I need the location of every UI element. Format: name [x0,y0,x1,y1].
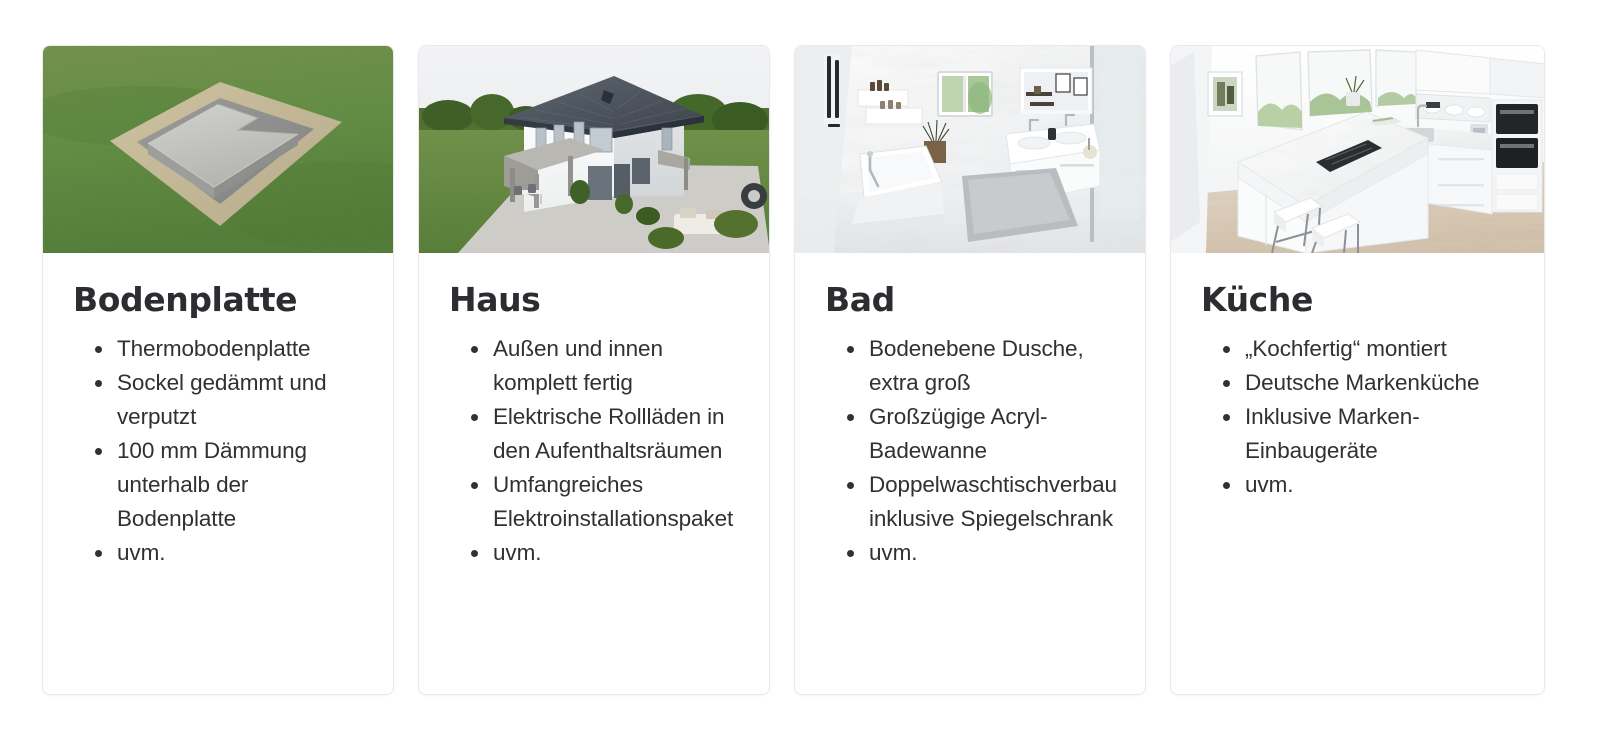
feature-card-haus[interactable]: Haus Außen und innen komplett fertig Ele… [418,45,770,695]
list-item: uvm. [1215,468,1514,502]
list-item: uvm. [839,536,1115,570]
feature-list: Bodenebene Dusche, extra groß Großzügige… [825,332,1115,570]
list-item: Doppelwaschtischverbau inklusive Spiegel… [839,468,1115,536]
list-item: uvm. [87,536,363,570]
card-title: Küche [1201,283,1514,318]
card-body: Bodenplatte Thermobodenplatte Sockel ged… [43,253,393,694]
bathroom-photo [795,46,1145,253]
feature-card-bad[interactable]: Bad Bodenebene Dusche, extra groß Großzü… [794,45,1146,695]
list-item: Bodenebene Dusche, extra groß [839,332,1115,400]
feature-list: „Kochfertig“ montiert Deutsche Markenküc… [1201,332,1514,502]
feature-list: Außen und innen komplett fertig Elektris… [449,332,739,570]
list-item: Außen und innen komplett fertig [463,332,739,400]
house-exterior-photo [419,46,769,253]
kitchen-photo [1171,46,1544,253]
list-item: Sockel gedämmt und verputzt [87,366,363,434]
card-body: Haus Außen und innen komplett fertig Ele… [419,253,769,694]
foundation-slab-photo [43,46,393,253]
list-item: 100 mm Dämmung unterhalb der Bodenplatte [87,434,363,536]
card-title: Bodenplatte [73,283,363,318]
list-item: Inklusive Marken-Einbaugeräte [1215,400,1514,468]
feature-cards-row: Bodenplatte Thermobodenplatte Sockel ged… [42,45,1545,695]
feature-card-kueche[interactable]: Küche „Kochfertig“ montiert Deutsche Mar… [1170,45,1545,695]
list-item: Elektrische Rollläden in den Aufenthalts… [463,400,739,468]
list-item: Deutsche Markenküche [1215,366,1514,400]
feature-card-bodenplatte[interactable]: Bodenplatte Thermobodenplatte Sockel ged… [42,45,394,695]
card-body: Küche „Kochfertig“ montiert Deutsche Mar… [1171,253,1544,694]
card-title: Bad [825,283,1115,318]
feature-list: Thermobodenplatte Sockel gedämmt und ver… [73,332,363,570]
list-item: Großzügige Acryl-Badewanne [839,400,1115,468]
list-item: Umfangreiches Elektroinstallationspaket [463,468,739,536]
card-body: Bad Bodenebene Dusche, extra groß Großzü… [795,253,1145,694]
card-title: Haus [449,283,739,318]
list-item: Thermobodenplatte [87,332,363,366]
list-item: uvm. [463,536,739,570]
list-item: „Kochfertig“ montiert [1215,332,1514,366]
